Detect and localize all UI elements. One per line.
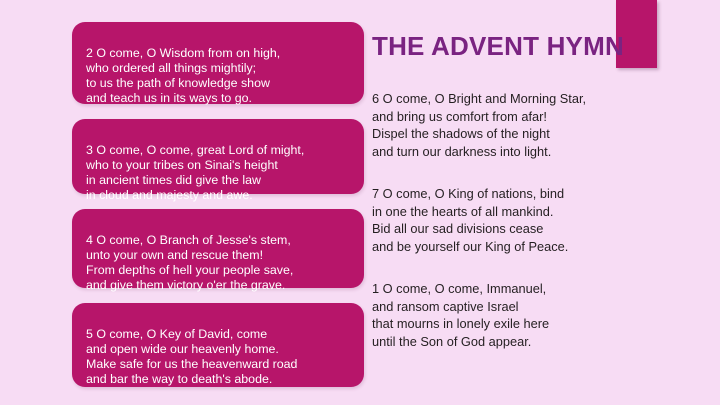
- verse-card-5-text: 5 O come, O Key of David, come and open …: [86, 327, 297, 386]
- verse-card-2: 2 O come, O Wisdom from on high, who ord…: [72, 22, 364, 104]
- verse-card-4: 4 O come, O Branch of Jesse's stem, unto…: [72, 209, 364, 288]
- verse-card-4-text: 4 O come, O Branch of Jesse's stem, unto…: [86, 233, 293, 292]
- verse-card-3: 3 O come, O come, great Lord of might, w…: [72, 119, 364, 194]
- verse-card-5: 5 O come, O Key of David, come and open …: [72, 303, 364, 387]
- slide-title: THE ADVENT HYMN: [372, 33, 652, 60]
- verse-card-2-text: 2 O come, O Wisdom from on high, who ord…: [86, 46, 280, 105]
- verse-text-1: 1 O come, O come, Immanuel, and ransom c…: [372, 280, 672, 350]
- verse-card-3-text: 3 O come, O come, great Lord of might, w…: [86, 143, 304, 202]
- presentation-slide: THE ADVENT HYMN 2 O come, O Wisdom from …: [0, 0, 720, 405]
- verse-text-7: 7 O come, O King of nations, bind in one…: [372, 185, 672, 255]
- verse-text-6: 6 O come, O Bright and Morning Star, and…: [372, 90, 672, 160]
